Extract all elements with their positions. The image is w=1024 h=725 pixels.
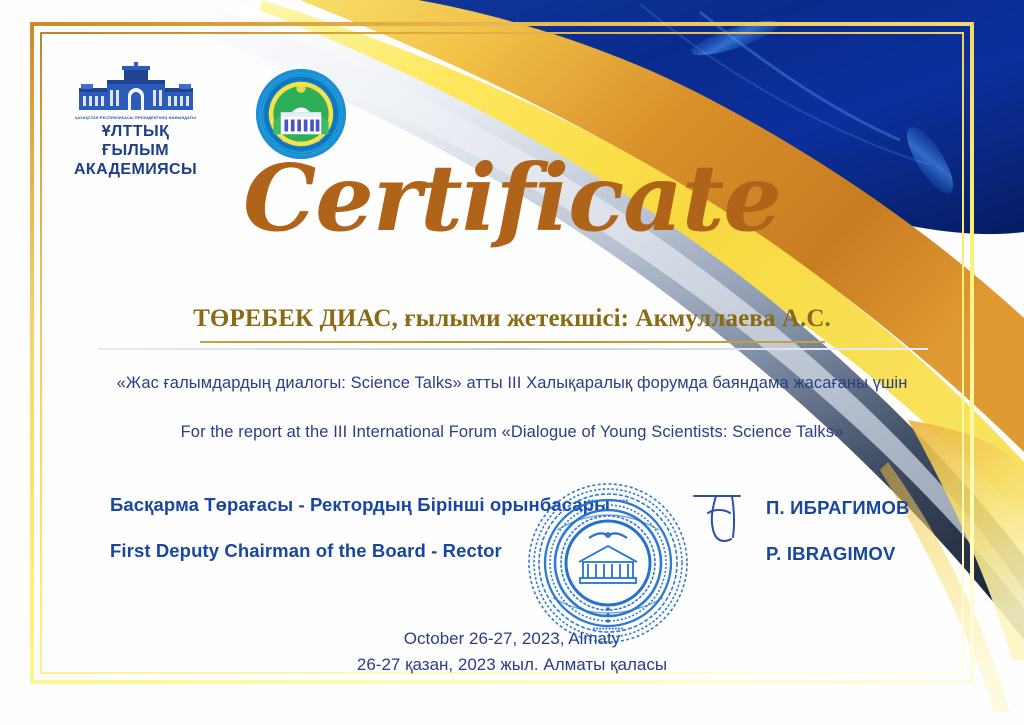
certificate-page: ҚАЗАҚСТАН РЕСПУБЛИКАСЫ ПРЕЗИДЕНТІНІҢ ЖАН… xyxy=(0,0,1024,725)
date-kk: 26-27 қазан, 2023 жыл. Алматы қаласы xyxy=(0,652,1024,678)
svg-text:●●●●●●●●●●: ●●●●●●●●●● xyxy=(592,626,623,632)
academy-building-icon xyxy=(77,62,195,114)
academy-superline: ҚАЗАҚСТАН РЕСПУБЛИКАСЫ ПРЕЗИДЕНТІНІҢ ЖАН… xyxy=(67,117,205,121)
handwritten-signature xyxy=(688,487,748,549)
official-round-stamp: ●●●●●●●●●●●●● ●●●●●●●●●● xyxy=(523,478,693,648)
body-text-en: For the report at the III International … xyxy=(0,423,1024,442)
svg-text:●●●●●●●●●●●●●: ●●●●●●●●●●●●● xyxy=(588,498,629,504)
recipient-name: ТӨРЕБЕК ДИАС, ғылыми жетекшісі: Акмуллае… xyxy=(0,305,1024,333)
date-en: October 26-27, 2023, Almaty xyxy=(0,626,1024,652)
page-title: Certificate xyxy=(0,152,1024,244)
section-divider xyxy=(98,348,928,350)
signatory-name-kk: П. ИБРАГИМОВ xyxy=(766,497,910,519)
body-text-kk: «Жас ғалымдардың диалогы: Science Talks»… xyxy=(0,374,1024,393)
date-block: October 26-27, 2023, Almaty 26-27 қазан,… xyxy=(0,626,1024,679)
signatory-name-en: P. IBRAGIMOV xyxy=(766,543,910,565)
recipient-underline xyxy=(200,341,825,343)
signatory-name-block: П. ИБРАГИМОВ P. IBRAGIMOV xyxy=(766,497,910,565)
